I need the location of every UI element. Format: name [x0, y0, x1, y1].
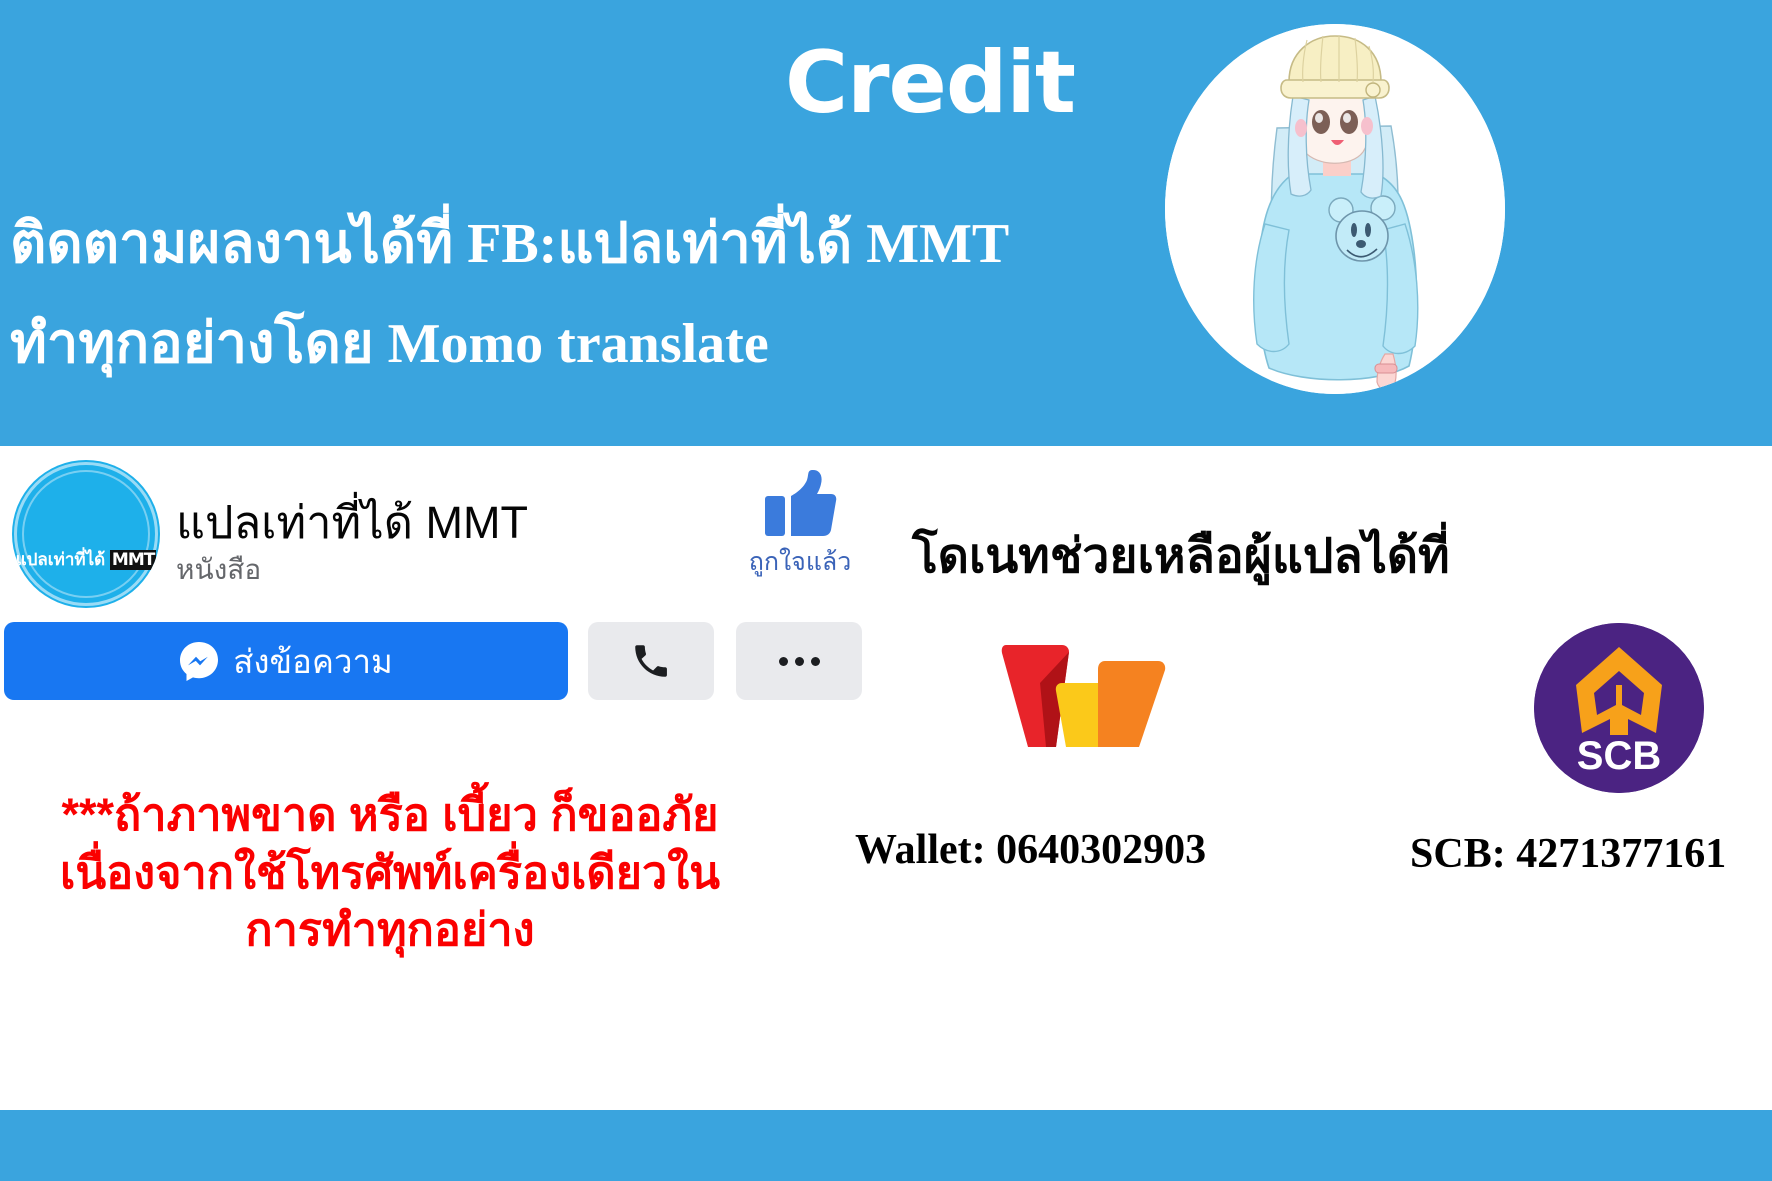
avatar-ring-inner — [22, 470, 150, 598]
like-status-block[interactable]: ถูกใจแล้ว — [740, 470, 860, 582]
avatar-mmt-badge: MMT — [110, 550, 156, 570]
disclaimer-text: ***ถ้าภาพขาด หรือ เบี้ยว ก็ขออภัย เนื่อง… — [0, 786, 780, 959]
footer-bar — [0, 1110, 1772, 1181]
phone-icon — [630, 640, 672, 682]
avatar-label: แปลเท่าที่ได้ MMT — [12, 546, 160, 573]
credit-follow-line: ติดตามผลงานได้ที่ FB:แปลเท่าที่ได้ MMT — [10, 198, 1009, 287]
header-banner: Credit ติดตามผลงานได้ที่ FB:แปลเท่าที่ได… — [0, 0, 1772, 446]
wallet-account-number: Wallet: 0640302903 — [855, 826, 1206, 874]
disclaimer-line-3: การทำทุกอย่าง — [0, 901, 780, 959]
donate-heading: โดเนทช่วยเหลือผู้แปลได้ที่ — [912, 518, 1450, 594]
scb-account-number: SCB: 4271377161 — [1410, 830, 1726, 878]
anime-girl-illustration-icon — [1165, 24, 1505, 394]
thumbs-up-icon — [763, 470, 837, 538]
credit-author-line: ทำทุกอย่างโดย Momo translate — [10, 298, 769, 387]
send-message-button[interactable]: ส่งข้อความ — [4, 622, 568, 700]
avatar-thai-text: แปลเท่าที่ได้ — [16, 550, 106, 569]
scb-bank-logo-icon: SCB — [1534, 623, 1704, 793]
more-options-button[interactable] — [736, 622, 862, 700]
call-button[interactable] — [588, 622, 714, 700]
credit-page: Credit ติดตามผลงานได้ที่ FB:แปลเท่าที่ได… — [0, 0, 1772, 1181]
page-avatar[interactable]: แปลเท่าที่ได้ MMT — [12, 460, 160, 608]
page-category: หนังสือ — [176, 548, 261, 592]
disclaimer-line-1: ***ถ้าภาพขาด หรือ เบี้ยว ก็ขออภัย — [0, 786, 780, 844]
send-message-label: ส่งข้อความ — [233, 635, 393, 688]
disclaimer-line-2: เนื่องจากใช้โทรศัพท์เครื่องเดียวใน — [0, 844, 780, 902]
truemoney-wallet-logo-icon — [1000, 641, 1170, 751]
ellipsis-icon — [779, 657, 820, 666]
facebook-page-card: แปลเท่าที่ได้ MMT แปลเท่าที่ได้ MMT หนัง… — [0, 446, 1772, 1100]
page-title: Credit — [730, 40, 1130, 126]
like-label: ถูกใจแล้ว — [740, 542, 860, 582]
scb-logo-text: SCB — [1577, 734, 1661, 778]
messenger-icon — [179, 641, 219, 681]
